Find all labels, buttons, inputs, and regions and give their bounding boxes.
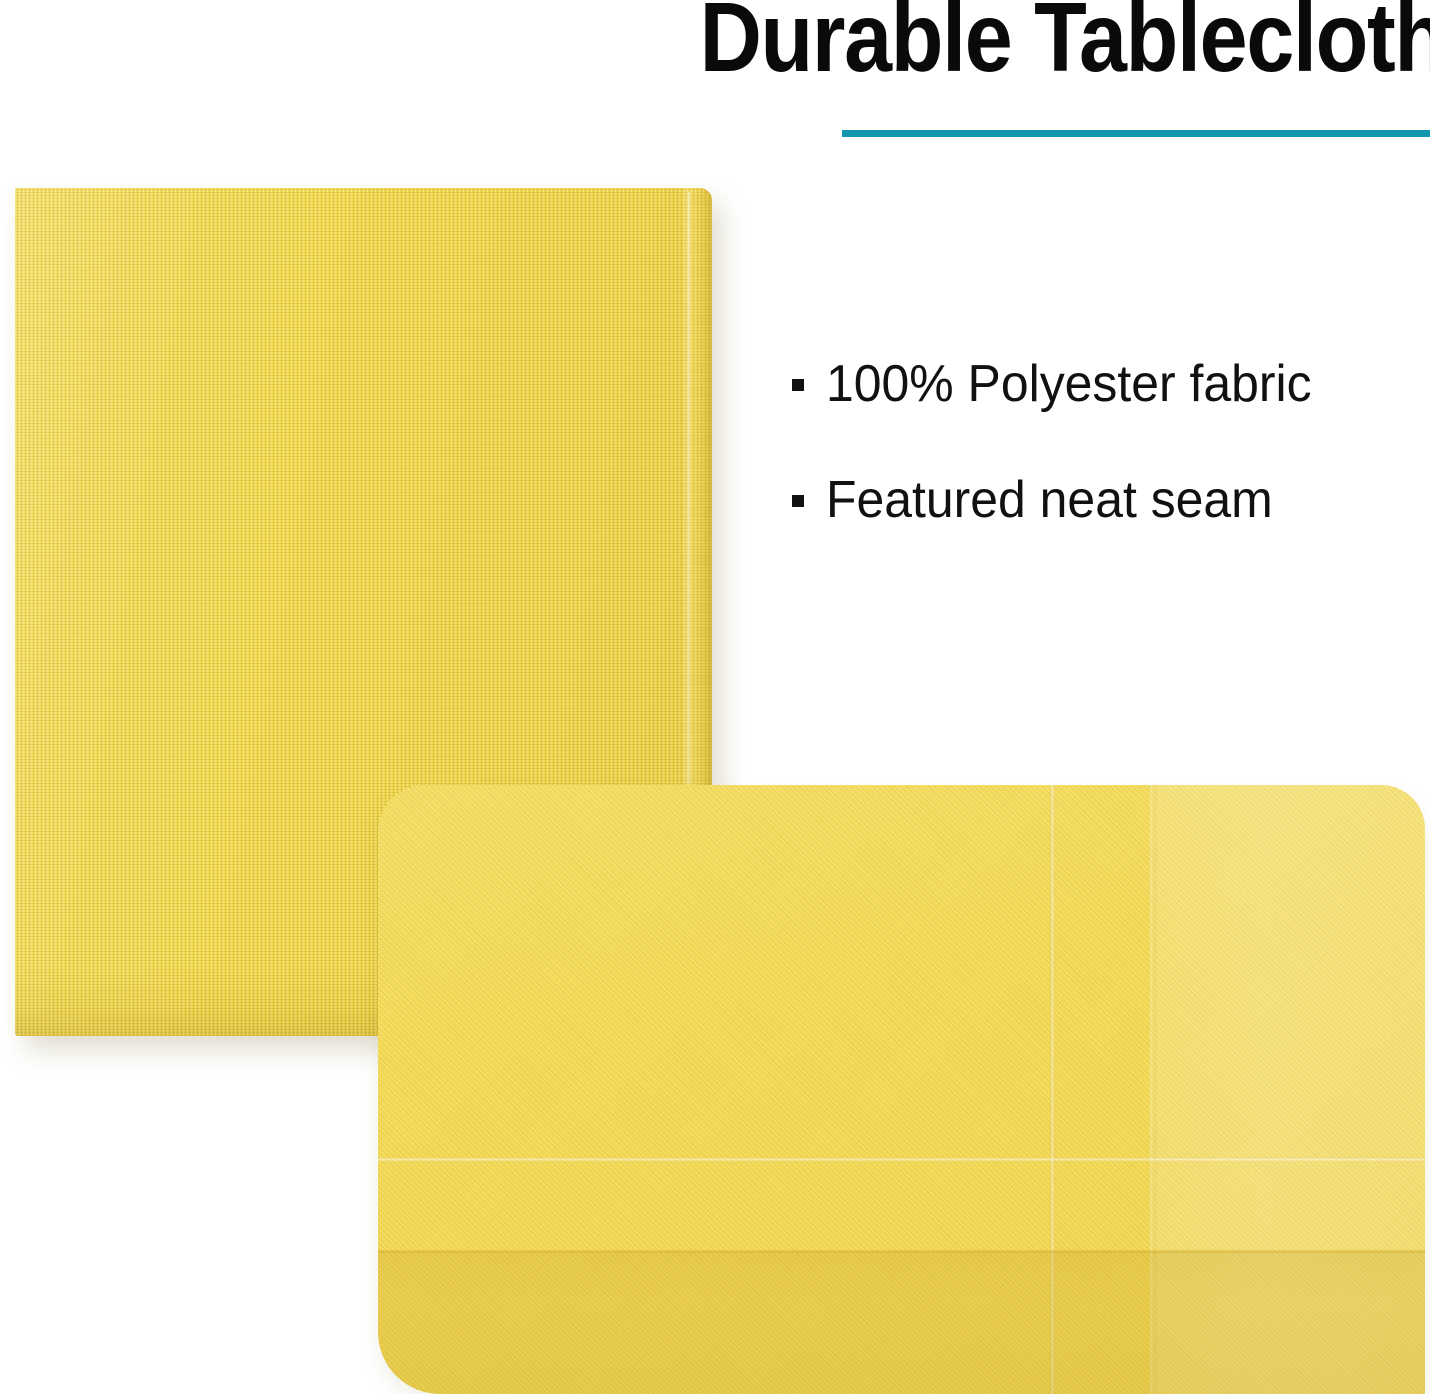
square-bullet-icon (792, 495, 804, 507)
list-item: Featured neat seam (790, 468, 1410, 584)
page-title: Durable Tablecloth (700, 0, 1430, 86)
feature-label: 100% Polyester fabric (826, 352, 1312, 416)
list-item: 100% Polyester fabric (790, 352, 1410, 468)
square-bullet-icon (792, 379, 804, 391)
product-infographic: Durable Tablecloth 100% Polyester fabric… (0, 0, 1430, 1394)
feature-list: 100% Polyester fabric Featured neat seam (790, 352, 1410, 584)
fabric-sheen (378, 785, 1425, 1394)
hemmed-tablecloth-image (378, 785, 1425, 1394)
title-accent-rule (842, 130, 1430, 137)
feature-label: Featured neat seam (826, 468, 1273, 532)
